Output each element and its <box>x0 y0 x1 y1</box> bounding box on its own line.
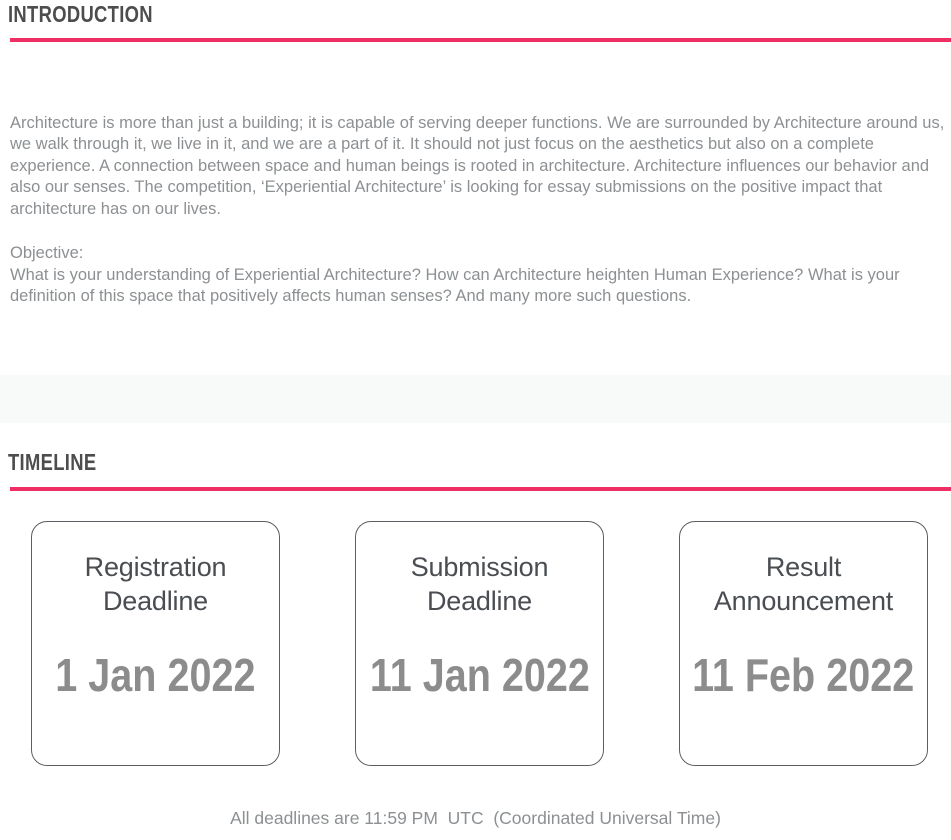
introduction-heading: INTRODUCTION <box>0 2 761 26</box>
introduction-heading-wrap: INTRODUCTION <box>0 0 951 26</box>
timeline-card-title: Result Announcement <box>686 550 921 618</box>
timeline-card-registration: Registration Deadline 1 Jan 2022 <box>31 521 280 766</box>
introduction-accent-rule <box>10 38 951 42</box>
timeline-section: TIMELINE <box>0 450 951 491</box>
objective-label: Objective: <box>0 243 941 265</box>
timeline-card-submission: Submission Deadline 11 Jan 2022 <box>355 521 604 766</box>
timeline-rule-wrap <box>0 487 951 491</box>
timeline-card-date: 1 Jan 2022 <box>55 650 255 700</box>
timeline-heading: TIMELINE <box>0 450 761 474</box>
timeline-cards-row: Registration Deadline 1 Jan 2022 Submiss… <box>0 521 951 766</box>
timeline-card-title: Registration Deadline <box>38 550 273 618</box>
timeline-heading-wrap: TIMELINE <box>0 450 951 474</box>
timeline-accent-rule <box>10 487 951 491</box>
introduction-paragraph: Architecture is more than just a buildin… <box>0 113 951 221</box>
timeline-card-title: Submission Deadline <box>362 550 597 618</box>
competition-brief-page: INTRODUCTION Architecture is more than j… <box>0 0 951 840</box>
objective-text: What is your understanding of Experienti… <box>0 265 941 308</box>
deadline-timezone-note: All deadlines are 11:59 PM UTC (Coordina… <box>0 806 951 830</box>
introduction-section: INTRODUCTION <box>0 0 951 42</box>
objective-block: Objective: What is your understanding of… <box>0 243 941 308</box>
timeline-card-date: 11 Feb 2022 <box>692 650 914 700</box>
introduction-rule-wrap <box>0 38 951 42</box>
timeline-card-result: Result Announcement 11 Feb 2022 <box>679 521 928 766</box>
timeline-card-date: 11 Jan 2022 <box>370 650 590 700</box>
section-separator-band <box>0 375 951 423</box>
